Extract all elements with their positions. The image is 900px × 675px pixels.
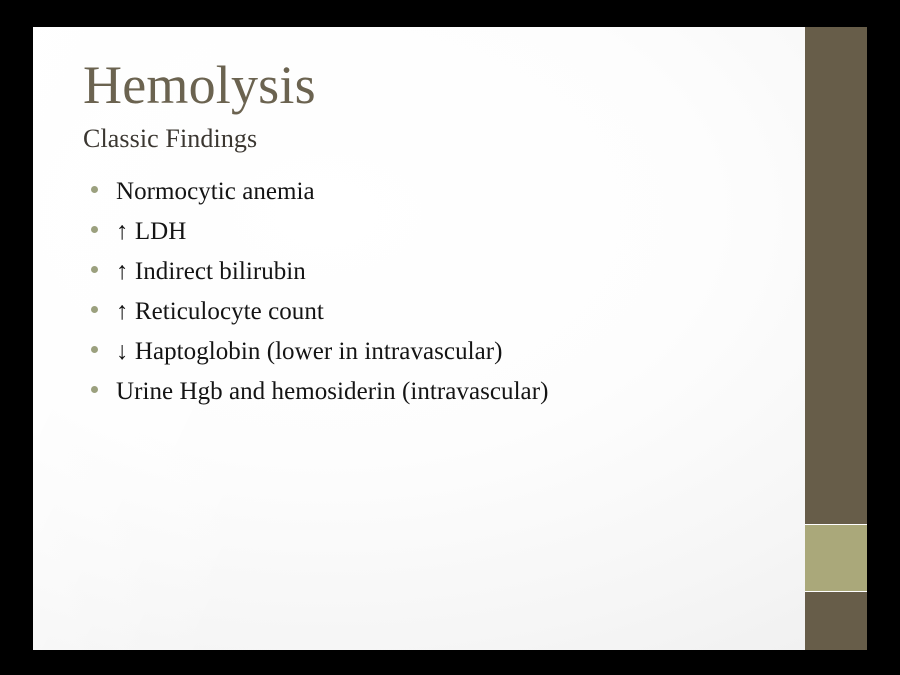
sidebar-decoration-accent: [805, 525, 867, 591]
list-item-label: Normocytic anemia: [116, 176, 315, 208]
bullet-dot-icon: [91, 186, 98, 193]
slide-content: Hemolysis Classic Findings Normocytic an…: [33, 27, 805, 650]
list-item: ↑ Reticulocyte count: [91, 296, 791, 336]
list-item: ↑ Indirect bilirubin: [91, 256, 791, 296]
title-block: Hemolysis Classic Findings: [83, 55, 773, 155]
sidebar-decoration-bottom: [805, 592, 867, 650]
bullet-dot-icon: [91, 226, 98, 233]
list-item: Urine Hgb and hemosiderin (intravascular…: [91, 376, 791, 416]
list-item: ↓ Haptoglobin (lower in intravascular): [91, 336, 791, 376]
list-item-label: ↓ Haptoglobin (lower in intravascular): [116, 336, 503, 368]
list-item-label: ↑ LDH: [116, 216, 186, 248]
list-item-label: ↑ Indirect bilirubin: [116, 256, 306, 288]
list-item: Normocytic anemia: [91, 176, 791, 216]
bullet-dot-icon: [91, 266, 98, 273]
page-title: Hemolysis: [83, 55, 773, 115]
sidebar-decoration-top: [805, 27, 867, 524]
presentation-viewer: Hemolysis Classic Findings Normocytic an…: [0, 0, 900, 675]
bullet-dot-icon: [91, 346, 98, 353]
list-item-label: Urine Hgb and hemosiderin (intravascular…: [116, 376, 548, 408]
bullet-dot-icon: [91, 386, 98, 393]
bullet-list: Normocytic anemia ↑ LDH ↑ Indirect bilir…: [91, 176, 791, 416]
slide-canvas: Hemolysis Classic Findings Normocytic an…: [33, 27, 867, 650]
list-item-label: ↑ Reticulocyte count: [116, 296, 324, 328]
bullet-dot-icon: [91, 306, 98, 313]
list-item: ↑ LDH: [91, 216, 791, 256]
page-subtitle: Classic Findings: [83, 123, 773, 155]
